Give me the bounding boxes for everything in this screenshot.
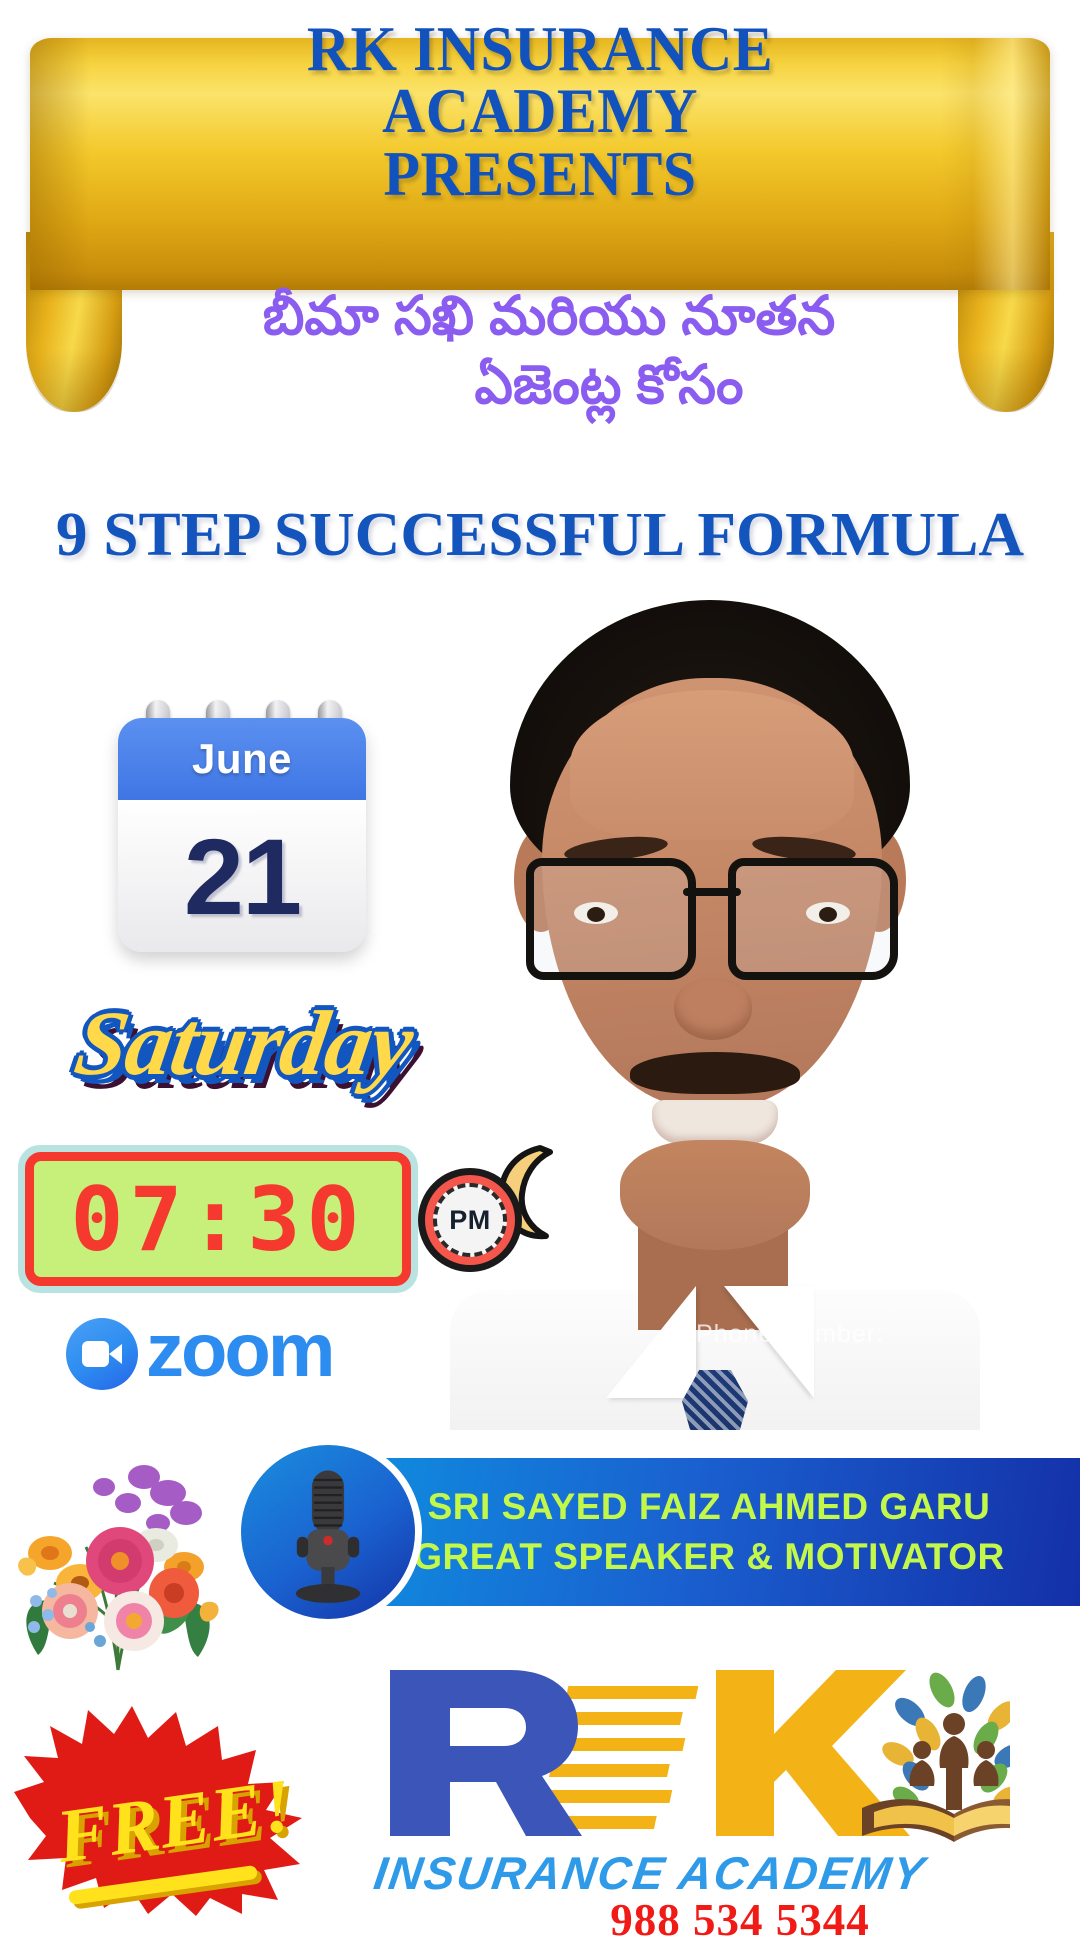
zoom-wordmark: zoom [146, 1313, 332, 1389]
eyeglasses [526, 858, 898, 974]
calendar-day: 21 [118, 800, 366, 952]
speaker-info-banner: SRI SAYED FAIZ AHMED GARU GREAT SPEAKER … [338, 1458, 1080, 1606]
telugu-line-1: బీమా సఖి మరియు నూతన [60, 282, 1038, 351]
clock-display: 07:30 [25, 1152, 411, 1286]
telugu-line-2: ఏజెంట్ల కోసం [60, 351, 1038, 420]
title-line-3: PRESENTS [27, 143, 1053, 205]
video-camera-icon [66, 1318, 138, 1390]
calendar-month: June [118, 718, 366, 800]
telugu-subtitle: బీమా సఖి మరియు నూతన ఏజెంట్ల కోసం [60, 282, 1038, 420]
eye-right [806, 902, 850, 924]
forehead [570, 690, 854, 840]
photo-watermark: Phone Number: [580, 1320, 990, 1349]
mouth [652, 1100, 778, 1144]
title-line-2: ACADEMY [27, 80, 1053, 142]
price-badge: FREE! [10, 1700, 340, 1918]
brand-tagline: INSURANCE ACADEMY [356, 1846, 944, 1900]
microphone-icon [234, 1438, 422, 1626]
nose [674, 978, 752, 1040]
zoom-platform-logo: zoom [66, 1318, 332, 1390]
glasses-bridge [683, 888, 741, 896]
mustache [630, 1052, 800, 1094]
brand-logo: INSURANCE ACADEMY 988 534 5344 [350, 1650, 1010, 1920]
speaker-portrait-photo: Phone Number: [430, 600, 990, 1430]
lens-right [728, 858, 898, 980]
event-date-calendar: June 21 [118, 700, 366, 952]
event-time-clock: 07:30 [18, 1145, 418, 1293]
title-line-1: RK INSURANCE [27, 18, 1053, 80]
meridiem-badge: PM [418, 1168, 522, 1272]
eye-left [574, 902, 618, 924]
pupil-left [587, 907, 605, 922]
meridiem-label: PM [433, 1183, 507, 1257]
contact-phone: 988 534 5344 [530, 1894, 950, 1946]
lens-left [526, 858, 696, 980]
speaker-role: GREAT SPEAKER & MOTIVATOR [413, 1536, 1005, 1578]
event-weekday: Saturday [26, 990, 463, 1096]
flower-bouquet-decoration [8, 1425, 228, 1675]
calendar-body: June 21 [118, 718, 366, 952]
speaker-name: SRI SAYED FAIZ AHMED GARU [428, 1486, 991, 1528]
chin [620, 1140, 810, 1250]
pupil-right [819, 907, 837, 922]
headline-text: 9 STEP SUCCESSFUL FORMULA [0, 500, 1080, 571]
page-title: RK INSURANCE ACADEMY PRESENTS [27, 18, 1053, 205]
